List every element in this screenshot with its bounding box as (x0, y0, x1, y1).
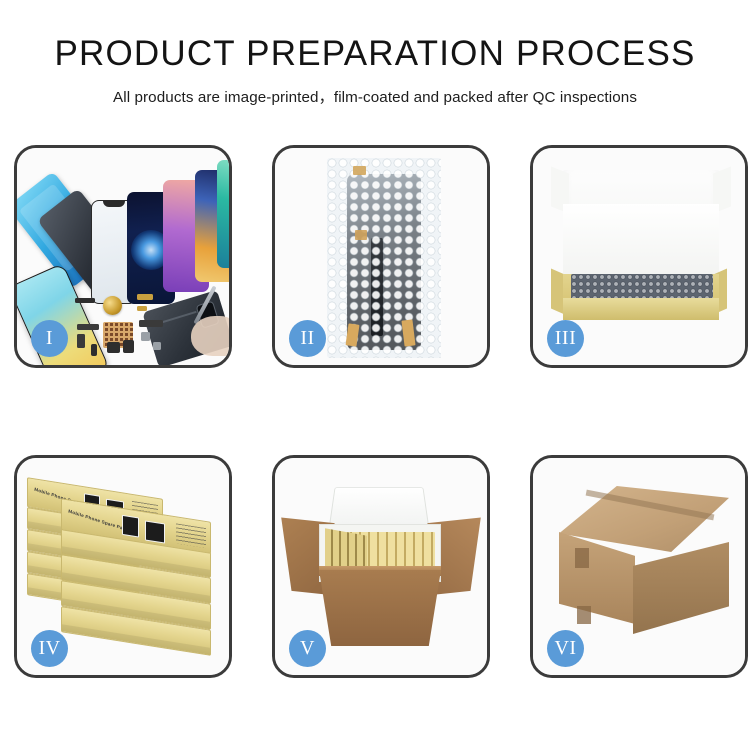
step-panel-1: I (14, 145, 232, 368)
carton-right-face (633, 542, 729, 634)
step-badge-6: VI (547, 630, 584, 667)
small-part (137, 306, 147, 311)
hand-icon (191, 316, 229, 356)
step-badge-1: I (31, 320, 68, 357)
spec-text-block (176, 523, 206, 548)
step-panel-6: VI (530, 455, 748, 678)
product-preparation-infographic: PRODUCT PREPARATION PROCESS All products… (0, 0, 750, 750)
page-title: PRODUCT PREPARATION PROCESS (0, 34, 750, 74)
product-window (122, 515, 139, 538)
notch-icon (103, 201, 125, 207)
step-panel-2: II (272, 145, 490, 368)
step-badge-4: IV (31, 630, 68, 667)
tape-piece (353, 166, 366, 175)
tape-piece (577, 606, 591, 624)
small-part (75, 298, 95, 303)
page-subtitle: All products are image-printed，film-coat… (0, 85, 750, 107)
product-window (145, 520, 165, 543)
box-front-face (563, 298, 719, 320)
flex-cable-part (77, 334, 85, 348)
tape-piece (575, 548, 589, 568)
tape-piece (355, 230, 367, 240)
small-part (153, 342, 161, 350)
speaker-coil-part (103, 296, 122, 315)
foam-sheet (563, 204, 719, 274)
process-steps-grid: I II (14, 145, 736, 678)
step-badge-2: II (289, 320, 326, 357)
retail-box-label: Mobile Phone Spare Parts (68, 509, 130, 533)
flex-cable-part (77, 324, 99, 330)
phone-display-teal (217, 160, 229, 268)
flex-cable-part (139, 320, 163, 327)
step-panel-5: V (272, 455, 490, 678)
small-part (137, 294, 153, 300)
carton-body (319, 570, 441, 646)
small-part (91, 344, 97, 356)
box-edge (62, 624, 210, 654)
step-panel-4: Mobile Phone Spare Parts Mobile Phone Sp… (14, 455, 232, 678)
bubble-texture (327, 158, 441, 358)
step-badge-3: III (547, 320, 584, 357)
step-panel-3: III (530, 145, 748, 368)
carton-left-face (559, 532, 635, 624)
small-part (123, 340, 134, 353)
small-part (107, 342, 120, 353)
step-badge-5: V (289, 630, 326, 667)
header: PRODUCT PREPARATION PROCESS All products… (0, 34, 750, 107)
bubble-wrap-bag (327, 158, 441, 358)
bubble-wrapped-contents (571, 274, 713, 300)
small-part (141, 332, 150, 341)
